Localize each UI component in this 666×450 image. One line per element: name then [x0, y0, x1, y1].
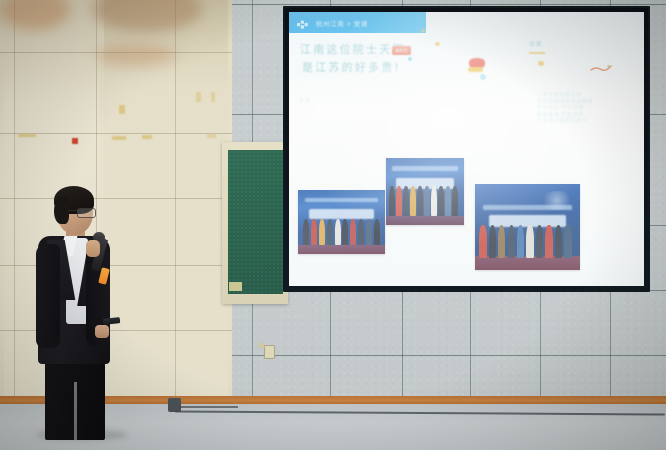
wall-mark: [258, 343, 265, 348]
wall-mark: [112, 136, 126, 140]
wall-mark: [142, 135, 152, 139]
decorative-dot-icon: [408, 57, 412, 61]
wall-mark: [72, 138, 78, 144]
green-chalkboard: [228, 150, 283, 294]
glasses-icon: [77, 208, 96, 218]
presenter-hand-upper: [86, 240, 100, 257]
slide-header-bar: 杭州江南 > 党课: [289, 12, 426, 33]
floor-cable: [178, 406, 238, 408]
slide-faint-paragraph: 江南大学党建工作 学习贯彻落实会议精神 不忘初心 牢记使命 团结奋进 开拓创新 …: [537, 92, 593, 125]
slide-side-label: 党课: [529, 40, 542, 48]
wall-mark: [18, 134, 36, 137]
swoosh-icon: [590, 60, 612, 68]
wall-mark: [211, 92, 215, 102]
slide-underline: [529, 52, 545, 54]
group-photo-left[interactable]: [298, 190, 385, 254]
group-photo-right[interactable]: [475, 184, 580, 270]
decorative-dot-icon: [421, 29, 425, 32]
group-photo-center[interactable]: [386, 158, 464, 225]
decorative-dot-icon: [538, 61, 544, 66]
logo-icon: [296, 17, 309, 28]
beige-tile-wall: [0, 0, 232, 410]
slide-footer-note: 2 0: [300, 98, 310, 104]
wall-outlet: [264, 345, 275, 359]
decorative-dot-icon: [435, 42, 440, 46]
chalk-tray-smudge: [229, 282, 242, 291]
slide-tag-label: 新时代: [392, 46, 411, 55]
wall-stain: [96, 44, 176, 66]
presenter-hair-side: [54, 196, 69, 224]
slide-tag-badge: 新时代: [392, 46, 411, 55]
presenter-arm-left: [36, 244, 60, 348]
presenter-leg-gap: [74, 382, 77, 440]
slide-handwritten-line-1: 江南这位院士天丁: [300, 41, 406, 57]
presenter-hand-lower: [95, 325, 109, 338]
wall-mark: [119, 105, 125, 114]
wall-mark: [207, 134, 216, 138]
slide-handwritten-line-2: 是江苏的好多贵!: [302, 59, 401, 75]
projection-screen[interactable]: 杭州江南 > 党课 江南这位院士天丁 是江苏的好多贵! 新时代 党课 江南大学党…: [289, 12, 644, 286]
slide-breadcrumb: 杭州江南 > 党课: [316, 18, 368, 28]
classroom-scene: 杭州江南 > 党课 江南这位院士天丁 是江苏的好多贵! 新时代 党课 江南大学党…: [0, 0, 666, 450]
decorative-blob-icon: [468, 67, 483, 72]
wall-mark: [196, 92, 201, 102]
decorative-dot-icon: [480, 74, 486, 80]
